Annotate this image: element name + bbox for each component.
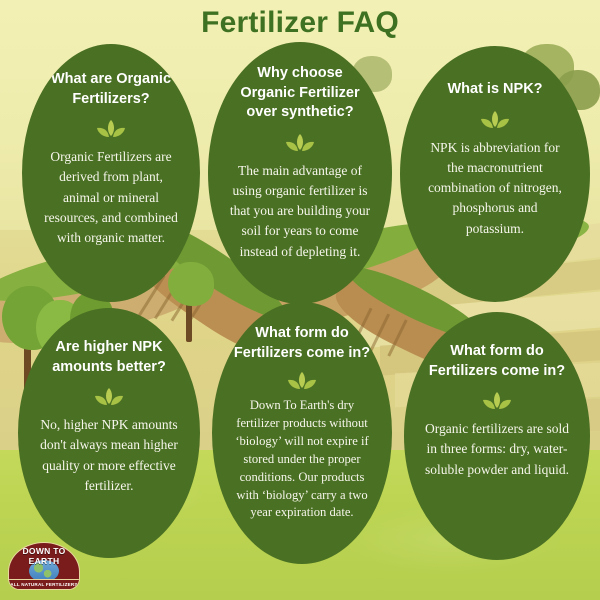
fertilizer-faq-infographic: Fertilizer FAQ What are Organic Fertiliz… — [0, 0, 600, 600]
leaf-sprout-icon — [285, 132, 315, 154]
leaf-sprout-icon — [480, 109, 510, 131]
leaf-sprout-icon — [482, 390, 512, 412]
faq-card: What form do Fertilizers come in? Down T… — [212, 302, 392, 564]
tree-canopy — [168, 262, 214, 306]
faq-answer: NPK is abbreviation for the macronutrien… — [422, 138, 568, 239]
faq-answer: No, higher NPK amounts don't always mean… — [38, 415, 180, 496]
brand-logo[interactable]: DOWN TO EARTH ALL NATURAL FERTILIZERS — [8, 542, 80, 590]
logo-brand-name: DOWN TO EARTH — [9, 546, 79, 566]
faq-question: What is NPK? — [447, 80, 542, 100]
faq-card: What are Organic Fertilizers? Organic Fe… — [22, 44, 200, 302]
faq-question: What are Organic Fertilizers? — [44, 70, 178, 109]
leaf-sprout-icon — [94, 386, 124, 408]
faq-question: Are higher NPK amounts better? — [38, 338, 180, 377]
faq-question: What form do Fertilizers come in? — [228, 324, 376, 363]
faq-card: What form do Fertilizers come in? Organi… — [404, 312, 590, 560]
leaf-sprout-icon — [96, 118, 126, 140]
logo-badge: DOWN TO EARTH ALL NATURAL FERTILIZERS — [8, 542, 80, 590]
faq-answer: Organic fertilizers are sold in three fo… — [422, 419, 572, 480]
leaf-sprout-icon — [287, 370, 317, 392]
faq-question: What form do Fertilizers come in? — [422, 342, 572, 381]
faq-question: Why choose Organic Fertilizer over synth… — [228, 64, 372, 123]
logo-tagline: ALL NATURAL FERTILIZERS — [9, 579, 79, 589]
faq-answer: Down To Earth's dry fertilizer products … — [228, 397, 376, 522]
faq-answer: The main advantage of using organic fert… — [228, 161, 372, 262]
faq-card: What is NPK? NPK is abbreviation for the… — [400, 46, 590, 302]
faq-card: Are higher NPK amounts better? No, highe… — [18, 308, 200, 558]
page-title: Fertilizer FAQ — [0, 6, 600, 40]
faq-answer: Organic Fertilizers are derived from pla… — [44, 147, 178, 248]
faq-card: Why choose Organic Fertilizer over synth… — [208, 42, 392, 304]
